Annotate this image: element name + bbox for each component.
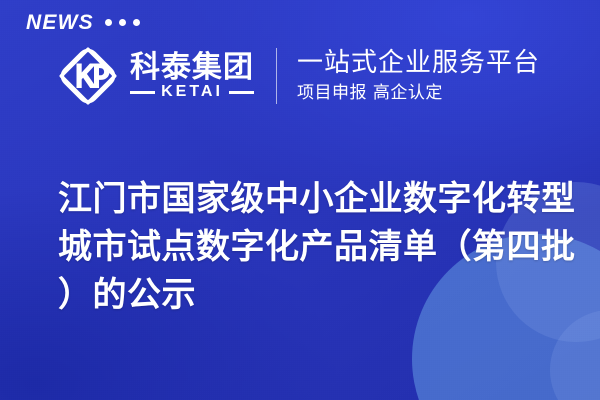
news-banner: NEWS: [0, 0, 600, 400]
brand-names: 科泰集团 KETAI: [130, 52, 254, 101]
tagline-block: 一站式企业服务平台 项目申报 高企认定: [297, 48, 540, 103]
brand-lockup: 科泰集团 KETAI 一站式企业服务平台 项目申报 高企认定: [56, 44, 540, 108]
dot-icon: [105, 19, 112, 26]
decorative-circle-small: [550, 310, 600, 400]
headline-line: 城市试点数字化产品清单（第四批: [58, 223, 563, 271]
brand-name-en: KETAI: [161, 84, 223, 100]
brand-rule-left: [130, 91, 155, 94]
dot-icon: [133, 19, 140, 26]
brand-divider: [276, 48, 277, 104]
headline-line: 江门市国家级中小企业数字化转型: [58, 175, 563, 223]
brand-rule-right: [229, 91, 254, 94]
news-label: NEWS: [26, 12, 94, 33]
ketai-kp-monogram-logo-icon: [56, 44, 120, 108]
brand-name-en-row: KETAI: [130, 84, 254, 100]
news-dots-icon: [105, 19, 140, 26]
headline-line: ）的公示: [58, 271, 563, 319]
tagline-main: 一站式企业服务平台: [297, 48, 540, 78]
dot-icon: [119, 19, 126, 26]
headline: 江门市国家级中小企业数字化转型 城市试点数字化产品清单（第四批 ）的公示: [58, 175, 563, 319]
brand-name-cn: 科泰集团: [130, 52, 254, 84]
tagline-sub: 项目申报 高企认定: [297, 82, 540, 104]
news-tag: NEWS: [26, 12, 140, 33]
